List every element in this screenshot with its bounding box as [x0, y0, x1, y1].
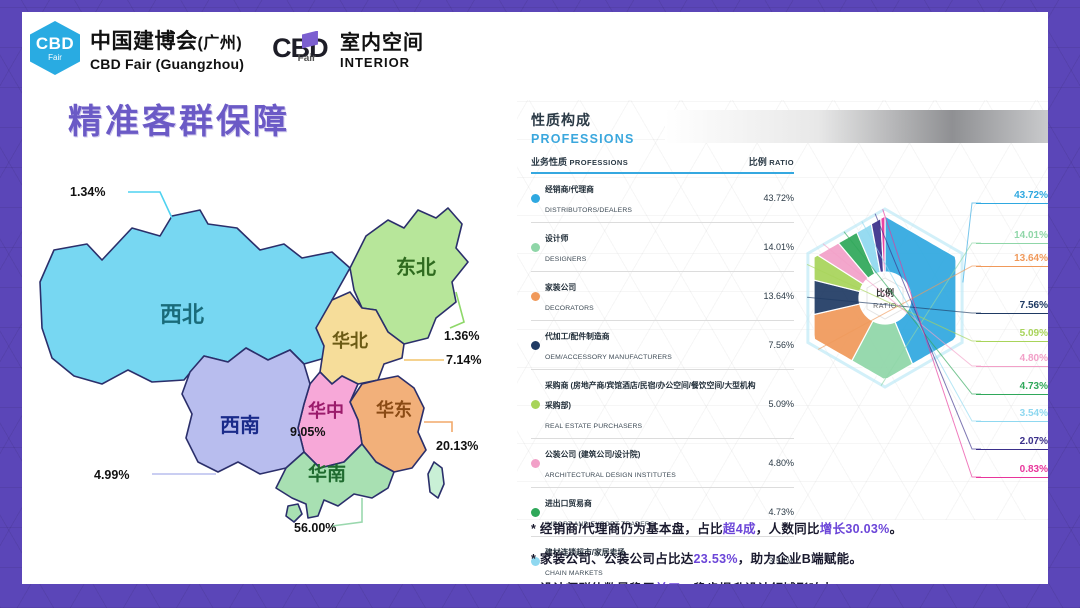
legend-dot-icon	[531, 459, 540, 468]
map-pct-xinan: 4.99%	[94, 468, 129, 482]
cbd-fair-sub: Fair	[298, 53, 316, 64]
row-name-en: DECORATORS	[545, 305, 594, 312]
legend-dot-icon	[531, 508, 540, 517]
note-text: ，人数同比	[756, 522, 820, 536]
chart-value-text: 2.07%	[976, 436, 1048, 447]
note-text: * 家装公司、公装公司占比达	[531, 552, 694, 566]
table-row[interactable]: 采购商 (房地产商/宾馆酒店/民宿/办公空间/餐饮空间/大型机构采购部)REAL…	[531, 370, 794, 439]
row-name-cn: 采购商 (房地产商/宾馆酒店/民宿/办公空间/餐饮空间/大型机构采购部)	[545, 381, 756, 410]
map-pct-huadong: 20.13%	[436, 439, 478, 453]
leader-huadong	[424, 422, 452, 432]
legend-dot-icon	[531, 194, 540, 203]
row-name-en: DESIGNERS	[545, 256, 586, 263]
row-ratio-value: 4.80%	[762, 458, 794, 468]
donut-center-cn: 比例	[876, 287, 894, 298]
row-name-cn: 设计师	[545, 234, 568, 243]
chart-value-label: 14.01%	[976, 230, 1048, 244]
chart-value-label: 7.56%	[976, 300, 1048, 314]
cbd-logo-sub: Fair	[48, 54, 62, 62]
map-pct-xibei: 1.34%	[70, 185, 105, 199]
map-label-huanan: 华南	[308, 462, 346, 485]
chart-value-text: 0.83%	[976, 464, 1048, 475]
cbd-hexagon-logo-icon: CBD Fair	[30, 21, 80, 75]
row-name-en: REAL ESTATE PURCHASERS	[545, 423, 642, 430]
row-label: 代加工/配件制造商OEM/ACCESSORY MANUFACTURERS	[531, 325, 762, 365]
row-name-cn: 家装公司	[545, 283, 576, 292]
chart-value-label: 3.54%	[976, 408, 1048, 422]
table-row[interactable]: 公装公司 (建筑公司/设计院)ARCHITECTURAL DESIGN INST…	[531, 439, 794, 488]
summary-note: * 设计师群体数量稳居前三，稳步提升设计领域影响力。	[531, 578, 1031, 584]
map-pct-dongbei: 1.36%	[444, 329, 479, 343]
map-region-taiwan[interactable]	[428, 462, 444, 498]
row-name-cn: 经销商/代理商	[545, 185, 594, 194]
note-highlight: 超4成	[723, 522, 756, 536]
map-label-huazhong: 华中	[308, 400, 344, 421]
china-region-map: 西北 东北 华北 华东 华中 西南 华南 1.34% 1.36% 7.14% 2…	[32, 132, 512, 532]
map-pct-huanan: 56.00%	[294, 521, 336, 532]
row-ratio-value: 4.73%	[762, 507, 794, 517]
table-row[interactable]: 经销商/代理商DISTRIBUTORS/DEALERS43.72%	[531, 174, 794, 223]
map-pct-huabei: 7.14%	[446, 353, 481, 367]
map-label-huabei: 华北	[332, 330, 368, 351]
col-header-professions: 业务性质 PROFESSIONS	[531, 155, 628, 168]
table-header-row: 业务性质 PROFESSIONS 比例 RATIO	[531, 155, 794, 174]
map-svg: 西北 东北 华北 华东 华中 西南 华南 1.34% 1.36% 7.14% 2…	[32, 132, 512, 532]
chart-value-label: 43.72%	[976, 190, 1048, 204]
map-region-hainan[interactable]	[286, 504, 302, 522]
row-name-cn: 进出口贸易商	[545, 499, 592, 508]
table-row[interactable]: 代加工/配件制造商OEM/ACCESSORY MANUFACTURERS7.56…	[531, 321, 794, 370]
note-text: * 经销商/代理商仍为基本盘，占比	[531, 522, 723, 536]
summary-note: * 经销商/代理商仍为基本盘，占比超4成，人数同比增长30.03%。	[531, 518, 1031, 537]
interior-brand: 室内空间 INTERIOR	[340, 26, 424, 70]
chart-value-text: 5.09%	[976, 328, 1048, 339]
note-highlight: 23.53%	[694, 552, 738, 566]
chart-value-text: 43.72%	[976, 190, 1048, 201]
note-highlight: 前三	[655, 582, 681, 584]
section-title: 性质构成 PROFESSIONS	[531, 110, 635, 146]
donut-svg: 比例 RATIO	[785, 178, 985, 428]
note-text: * 设计师群体数量稳居	[531, 582, 655, 584]
legend-dot-icon	[531, 292, 540, 301]
chart-value-labels: 43.72%14.01%13.64%7.56%5.09%4.80%4.73%3.…	[972, 178, 1048, 448]
row-name-cn: 代加工/配件制造商	[545, 332, 610, 341]
note-text: 。	[890, 522, 903, 536]
chart-value-text: 3.54%	[976, 408, 1048, 419]
row-label: 公装公司 (建筑公司/设计院)ARCHITECTURAL DESIGN INST…	[531, 443, 762, 483]
chart-value-text: 14.01%	[976, 230, 1048, 241]
hexagon-donut-chart: 比例 RATIO	[785, 178, 985, 428]
chart-value-label: 0.83%	[976, 464, 1048, 478]
grey-gradient-banner	[665, 110, 1048, 143]
row-name-en: DISTRIBUTORS/DEALERS	[545, 207, 632, 214]
map-label-huadong: 华东	[376, 399, 412, 420]
row-label: 采购商 (房地产商/宾馆酒店/民宿/办公空间/餐饮空间/大型机构采购部)REAL…	[531, 374, 762, 434]
note-text: ，助力企业B端赋能。	[738, 552, 863, 566]
table-row[interactable]: 家装公司DECORATORS13.64%	[531, 272, 794, 321]
row-label: 设计师DESIGNERS	[531, 227, 757, 267]
map-region-xibei[interactable]	[40, 210, 350, 384]
section-title-en: PROFESSIONS	[531, 132, 635, 146]
col-header-ratio: 比例 RATIO	[749, 155, 794, 168]
note-text: ，稳步提升设计领域影响力。	[681, 582, 847, 584]
slide-canvas: CBD Fair 中国建博会(广州) CBD Fair (Guangzhou) …	[22, 12, 1048, 584]
row-label: 经销商/代理商DISTRIBUTORS/DEALERS	[531, 178, 757, 218]
leader-xibei	[128, 192, 172, 218]
chart-value-label: 2.07%	[976, 436, 1048, 450]
chart-value-text: 4.80%	[976, 353, 1048, 364]
chart-value-text: 7.56%	[976, 300, 1048, 311]
interior-label-cn: 室内空间	[340, 26, 424, 55]
chart-value-label: 4.73%	[976, 381, 1048, 395]
brand-block: 中国建博会(广州) CBD Fair (Guangzhou)	[90, 25, 244, 72]
row-name-en: ARCHITECTURAL DESIGN INSTITUTES	[545, 472, 676, 479]
legend-dot-icon	[531, 400, 540, 409]
summary-notes: * 经销商/代理商仍为基本盘，占比超4成，人数同比增长30.03%。* 家装公司…	[531, 518, 1031, 584]
table-row[interactable]: 设计师DESIGNERS14.01%	[531, 223, 794, 272]
chart-value-label: 13.64%	[976, 253, 1048, 267]
map-label-xinan: 西南	[220, 414, 260, 437]
chart-value-label: 5.09%	[976, 328, 1048, 342]
cbd-logo-mark: CBD	[36, 35, 74, 52]
map-label-dongbei: 东北	[396, 255, 436, 279]
legend-dot-icon	[531, 341, 540, 350]
interior-label-en: INTERIOR	[340, 55, 424, 70]
map-pct-huazhong: 9.05%	[290, 425, 325, 439]
map-label-xibei: 西北	[160, 302, 204, 327]
chart-value-text: 13.64%	[976, 253, 1048, 264]
brand-name-cn: 中国建博会(广州)	[90, 25, 244, 55]
professions-panel: 性质构成 PROFESSIONS 业务性质 PROFESSIONS 比例 RAT…	[517, 100, 1048, 520]
row-name-cn: 公装公司 (建筑公司/设计院)	[545, 450, 640, 459]
summary-note: * 家装公司、公装公司占比达23.53%，助力企业B端赋能。	[531, 548, 1031, 567]
section-title-cn: 性质构成	[531, 110, 635, 130]
chart-value-label: 4.80%	[976, 353, 1048, 367]
cbd-fair-logo-icon: CBD Fair	[272, 35, 316, 62]
row-name-en: OEM/ACCESSORY MANUFACTURERS	[545, 354, 672, 361]
map-region-xinan[interactable]	[182, 348, 310, 474]
row-label: 家装公司DECORATORS	[531, 276, 757, 316]
brand-name-en: CBD Fair (Guangzhou)	[90, 56, 244, 72]
note-highlight: 增长30.03%	[820, 522, 890, 536]
chart-value-text: 4.73%	[976, 381, 1048, 392]
slide-header: CBD Fair 中国建博会(广州) CBD Fair (Guangzhou) …	[30, 20, 424, 76]
legend-dot-icon	[531, 243, 540, 252]
